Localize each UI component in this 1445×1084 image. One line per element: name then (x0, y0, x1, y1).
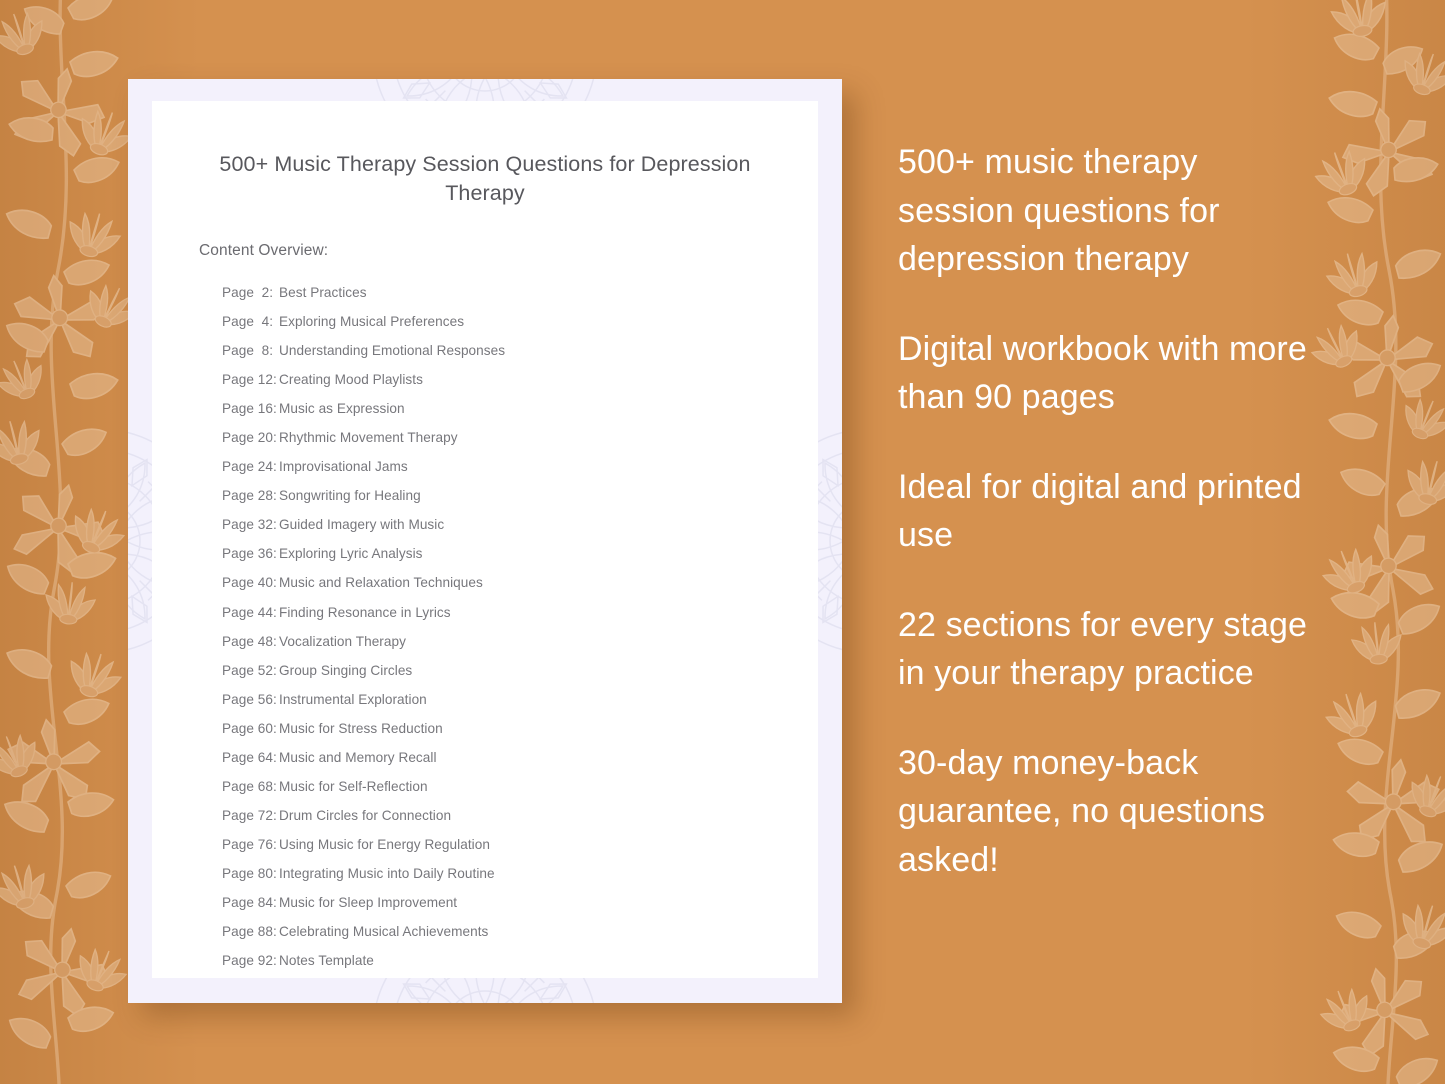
toc-section-title: Understanding Emotional Responses (279, 343, 505, 358)
table-of-contents-item: Page 28:Songwriting for Healing (222, 481, 818, 510)
table-of-contents-item: Page 48:Vocalization Therapy (222, 627, 818, 656)
toc-page-number: Page 80: (222, 859, 279, 888)
toc-page-number: Page 76: (222, 830, 279, 859)
toc-section-title: Music for Sleep Improvement (279, 895, 457, 910)
table-of-contents-item: Page 76:Using Music for Energy Regulatio… (222, 830, 818, 859)
toc-page-number: Page 60: (222, 714, 279, 743)
table-of-contents-item: Page 60:Music for Stress Reduction (222, 714, 818, 743)
table-of-contents-item: Page 72:Drum Circles for Connection (222, 801, 818, 830)
table-of-contents-item: Page 88:Celebrating Musical Achievements (222, 917, 818, 946)
marketing-point: Digital workbook with more than 90 pages (898, 325, 1318, 422)
marketing-point: 22 sections for every stage in your ther… (898, 601, 1318, 698)
toc-page-number: Page 8: (222, 336, 279, 365)
table-of-contents-item: Page 52:Group Singing Circles (222, 656, 818, 685)
table-of-contents-item: Page 8:Understanding Emotional Responses (222, 336, 818, 365)
toc-section-title: Vocalization Therapy (279, 634, 406, 649)
toc-page-number: Page 48: (222, 627, 279, 656)
floral-vine-border-left-icon (0, 0, 142, 1084)
product-graphic-canvas: 500+ Music Therapy Session Questions for… (0, 0, 1445, 1084)
toc-page-number: Page 44: (222, 598, 279, 627)
toc-page-number: Page 32: (222, 510, 279, 539)
table-of-contents-item: Page 40:Music and Relaxation Techniques (222, 568, 818, 597)
toc-section-title: Group Singing Circles (279, 663, 412, 678)
table-of-contents-item: Page 24:Improvisational Jams (222, 452, 818, 481)
toc-section-title: Instrumental Exploration (279, 692, 427, 707)
floral-vine-border-right-icon (1305, 0, 1445, 1084)
toc-section-title: Best Practices (279, 285, 367, 300)
toc-section-title: Celebrating Musical Achievements (279, 924, 488, 939)
toc-section-title: Songwriting for Healing (279, 488, 421, 503)
toc-section-title: Notes Template (279, 953, 374, 968)
toc-section-title: Drum Circles for Connection (279, 808, 451, 823)
table-of-contents-item: Page 20:Rhythmic Movement Therapy (222, 423, 818, 452)
toc-page-number: Page 92: (222, 946, 279, 975)
toc-section-title: Music and Memory Recall (279, 750, 437, 765)
toc-section-title: Improvisational Jams (279, 459, 408, 474)
toc-section-title: Using Music for Energy Regulation (279, 837, 490, 852)
toc-page-number: Page 72: (222, 801, 279, 830)
toc-page-number: Page 4: (222, 307, 279, 336)
toc-page-number: Page 52: (222, 656, 279, 685)
toc-page-number: Page 20: (222, 423, 279, 452)
toc-section-title: Guided Imagery with Music (279, 517, 444, 532)
marketing-point: 30-day money-back guarantee, no question… (898, 739, 1318, 885)
toc-section-title: Exploring Musical Preferences (279, 314, 464, 329)
marketing-point: Ideal for digital and printed use (898, 463, 1318, 560)
toc-page-number: Page 84: (222, 888, 279, 917)
table-of-contents-item: Page 4:Exploring Musical Preferences (222, 307, 818, 336)
toc-page-number: Page 16: (222, 394, 279, 423)
toc-page-number: Page 2: (222, 278, 279, 307)
table-of-contents-item: Page 12:Creating Mood Playlists (222, 365, 818, 394)
table-of-contents-item: Page 92:Notes Template (222, 946, 818, 975)
toc-section-title: Integrating Music into Daily Routine (279, 866, 495, 881)
toc-page-number: Page 24: (222, 452, 279, 481)
toc-section-title: Music and Relaxation Techniques (279, 575, 483, 590)
table-of-contents-item: Page 16:Music as Expression (222, 394, 818, 423)
table-of-contents-item: Page 56:Instrumental Exploration (222, 685, 818, 714)
page-title: 500+ Music Therapy Session Questions for… (210, 150, 760, 208)
toc-section-title: Exploring Lyric Analysis (279, 546, 423, 561)
table-of-contents-item: Page 2:Best Practices (222, 278, 818, 307)
toc-page-number: Page 28: (222, 481, 279, 510)
table-of-contents-item: Page 64:Music and Memory Recall (222, 743, 818, 772)
toc-page-number: Page 40: (222, 568, 279, 597)
toc-section-title: Music for Self-Reflection (279, 779, 428, 794)
toc-section-title: Finding Resonance in Lyrics (279, 605, 451, 620)
marketing-point: 500+ music therapy session questions for… (898, 138, 1318, 284)
toc-section-title: Creating Mood Playlists (279, 372, 423, 387)
table-of-contents-item: Page 84:Music for Sleep Improvement (222, 888, 818, 917)
toc-section-title: Music as Expression (279, 401, 405, 416)
content-overview-label: Content Overview: (199, 242, 818, 260)
table-of-contents-item: Page 80:Integrating Music into Daily Rou… (222, 859, 818, 888)
document-preview-card: 500+ Music Therapy Session Questions for… (128, 79, 842, 1003)
table-of-contents-item: Page 32:Guided Imagery with Music (222, 510, 818, 539)
toc-section-title: Music for Stress Reduction (279, 721, 443, 736)
document-page: 500+ Music Therapy Session Questions for… (152, 101, 818, 978)
toc-section-title: Rhythmic Movement Therapy (279, 430, 458, 445)
table-of-contents-item: Page 36:Exploring Lyric Analysis (222, 539, 818, 568)
toc-page-number: Page 64: (222, 743, 279, 772)
table-of-contents-list: Page 2:Best PracticesPage 4:Exploring Mu… (222, 278, 818, 975)
toc-page-number: Page 56: (222, 685, 279, 714)
marketing-points-column: 500+ music therapy session questions for… (898, 138, 1318, 884)
toc-page-number: Page 12: (222, 365, 279, 394)
table-of-contents-item: Page 68:Music for Self-Reflection (222, 772, 818, 801)
toc-page-number: Page 88: (222, 917, 279, 946)
toc-page-number: Page 68: (222, 772, 279, 801)
toc-page-number: Page 36: (222, 539, 279, 568)
table-of-contents-item: Page 44:Finding Resonance in Lyrics (222, 598, 818, 627)
